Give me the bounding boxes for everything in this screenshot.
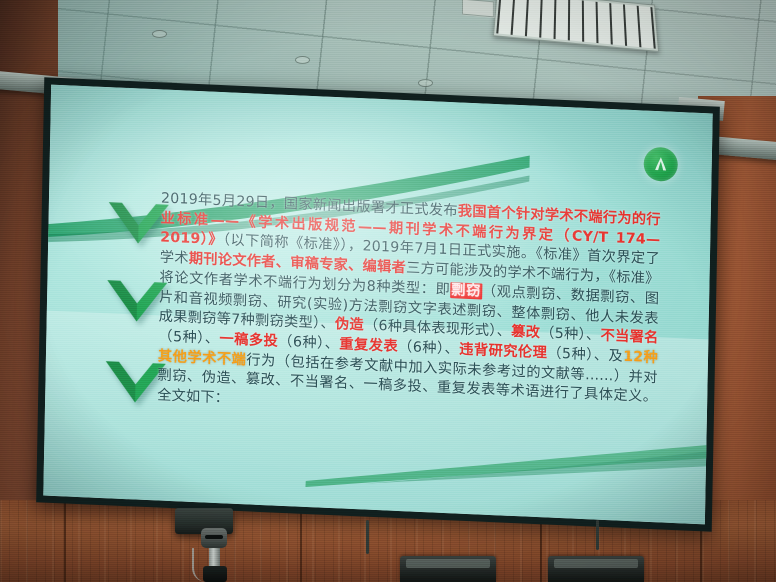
screen-surface: 2019年5月29日，国家新闻出版署才正式发布我国首个针对学术不端行为的行业标准… — [43, 85, 712, 525]
presentation-slide: 2019年5月29日，国家新闻出版署才正式发布我国首个针对学术不端行为的行业标准… — [43, 85, 712, 525]
slide-body-paragraph: 2019年5月29日，国家新闻出版署才正式发布我国首个针对学术不端行为的行业标准… — [157, 189, 661, 428]
text-run-red: 不当署名 — [600, 328, 658, 347]
organization-logo — [643, 147, 678, 182]
ceiling-sprinkler-icon — [295, 56, 310, 64]
text-run-plain: （5种）、 — [540, 325, 601, 344]
text-run-red: 违背研究伦理 — [459, 341, 547, 361]
wall-hook — [596, 520, 599, 550]
text-run-red: 重复发表 — [339, 336, 398, 355]
text-run-plain: （6种）、 — [398, 339, 459, 358]
wall-panel-seam — [64, 500, 66, 582]
chair-back — [400, 556, 496, 582]
chair-back — [548, 556, 644, 582]
chair-top-rail — [406, 559, 490, 568]
wall-hook — [366, 520, 369, 554]
ceiling-vent — [462, 0, 494, 17]
text-run-plain: （5种）、 — [158, 328, 219, 347]
text-run-red-highlight: 剽窃 — [450, 282, 482, 299]
ceiling-sprinkler-icon — [418, 79, 433, 87]
text-run-red: 篡改 — [511, 324, 540, 341]
text-run-plain: （6种具体表现形式）、 — [364, 318, 512, 340]
text-run-red: 一稿多投 — [219, 331, 278, 350]
chair-top-rail — [554, 559, 638, 568]
text-run-plain: （6种）、 — [278, 334, 339, 353]
microphone-head — [201, 528, 227, 548]
ceiling-sprinkler-icon — [152, 30, 167, 38]
conference-room-photo: 2019年5月29日，国家新闻出版署才正式发布我国首个针对学术不端行为的行业标准… — [0, 0, 776, 582]
text-run-plain: （5种）、及 — [547, 345, 623, 364]
microphone-grille — [205, 535, 223, 539]
text-run-red: 伪造 — [335, 316, 364, 333]
microphone-base — [203, 566, 227, 582]
projection-screen: 2019年5月29日，国家新闻出版署才正式发布我国首个针对学术不端行为的行业标准… — [36, 77, 720, 531]
